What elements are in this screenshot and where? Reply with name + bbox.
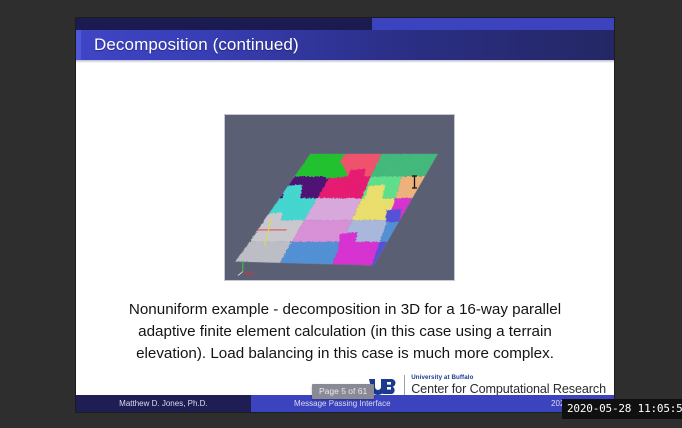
slide-caption: Nonuniform example - decomposition in 3D… — [90, 299, 600, 365]
slide-body: Nonuniform example - decomposition in 3D… — [76, 63, 614, 412]
3d-terrain-decomposition-image — [225, 115, 454, 281]
desktop-backdrop: Decomposition (continued) — [0, 0, 682, 428]
decomposition-figure[interactable] — [224, 114, 455, 281]
presentation-slide[interactable]: Decomposition (continued) — [76, 18, 614, 412]
caption-line-2: adaptive finite element calculation (in … — [90, 321, 600, 343]
ub-ccr-logo: University at Buffalo Center for Computa… — [367, 375, 606, 396]
recording-timestamp-overlay: 2020-05-28 11:05:57 — [562, 399, 682, 419]
ub-center-name: Center for Computational Research — [411, 383, 606, 396]
caption-line-3: elevation). Load balancing in this case … — [90, 343, 600, 365]
caption-line-1: Nonuniform example - decomposition in 3D… — [90, 299, 600, 321]
slide-title-bar: Decomposition (continued) — [76, 30, 614, 60]
top-strip-dark-segment — [76, 18, 372, 30]
footer-author: Matthew D. Jones, Ph.D. — [76, 395, 251, 412]
ub-university-name: University at Buffalo — [411, 375, 606, 381]
slide-title: Decomposition (continued) — [81, 35, 299, 55]
top-strip-light-segment — [372, 18, 614, 30]
slide-top-strip — [76, 18, 614, 30]
page-indicator-tooltip: Page 5 of 61 — [312, 384, 374, 399]
ub-logo-text: University at Buffalo Center for Computa… — [404, 375, 606, 396]
